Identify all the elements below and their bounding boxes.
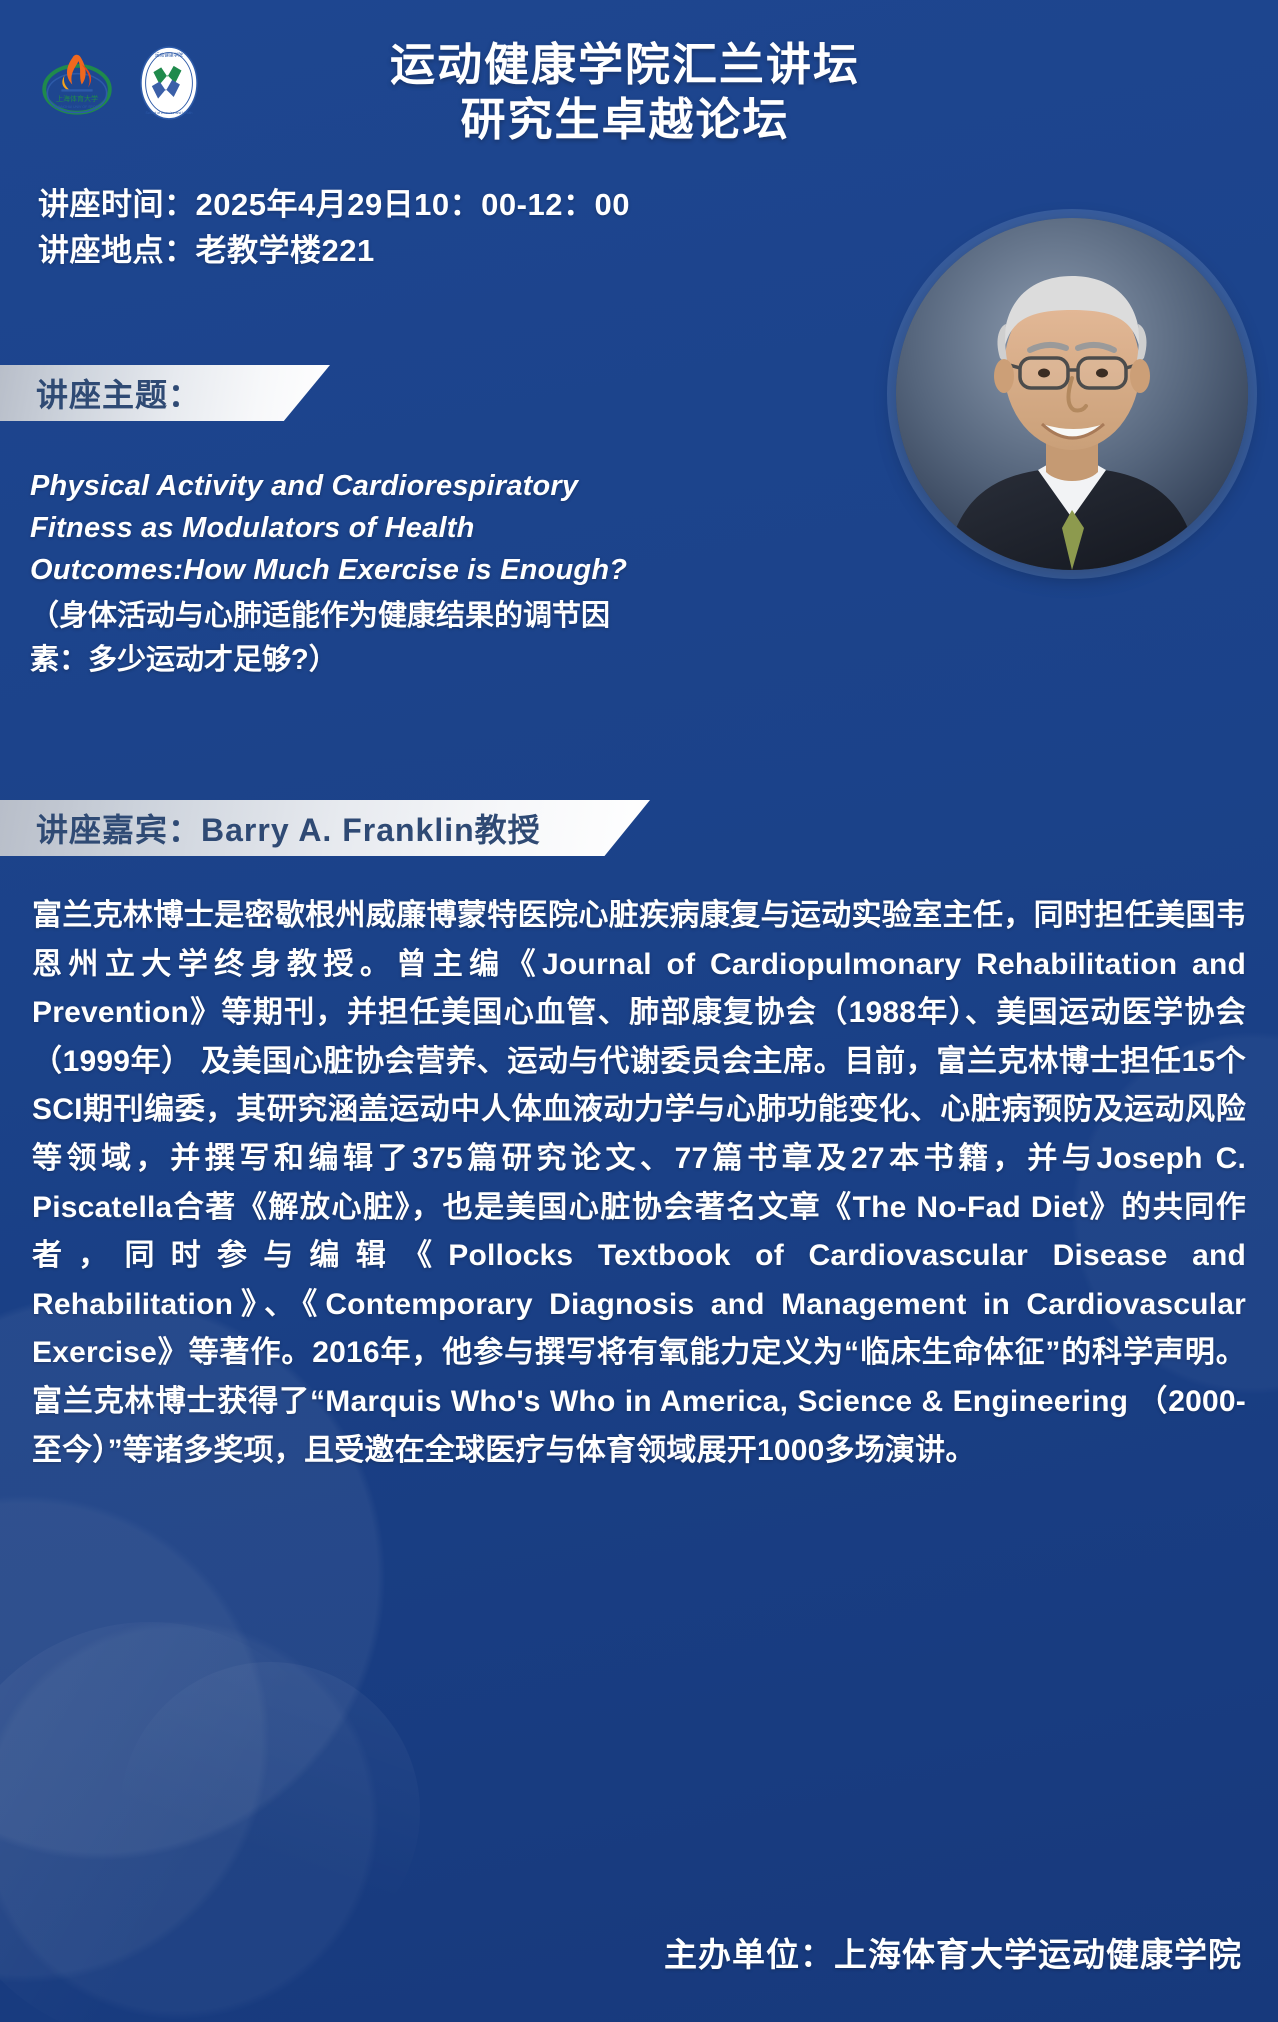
theme-section: 讲座主题： Physical Activity and Cardiorespir… xyxy=(0,365,1278,682)
poster-title-line-2: 研究生卓越论坛 xyxy=(230,93,1020,148)
lecture-place: 讲座地点：老教学楼221 xyxy=(38,228,630,274)
poster-canvas: 上海体育大学 SHANGHAI UNIV OF SPORT 运动健康学院 Sch… xyxy=(0,0,1278,2022)
guest-ribbon-banner: 讲座嘉宾：Barry A. Franklin教授 xyxy=(0,800,650,856)
lecture-time: 讲座时间：2025年4月29日10：00-12：00 xyxy=(38,182,630,228)
theme-title-english: Physical Activity and Cardiorespiratory … xyxy=(30,465,640,591)
theme-content: Physical Activity and Cardiorespiratory … xyxy=(0,421,640,682)
poster-header: 上海体育大学 SHANGHAI UNIV OF SPORT 运动健康学院 Sch… xyxy=(0,0,1278,185)
lecture-info-block: 讲座时间：2025年4月29日10：00-12：00 讲座地点：老教学楼221 xyxy=(38,182,630,274)
svg-text:SHANGHAI UNIV OF SPORT: SHANGHAI UNIV OF SPORT xyxy=(54,105,101,109)
theme-title-chinese: （身体活动与心肺适能作为健康结果的调节因素：多少运动才足够?） xyxy=(30,591,640,682)
guest-ribbon-text: 讲座嘉宾：Barry A. Franklin教授 xyxy=(36,805,541,851)
svg-text:运动健康学院: 运动健康学院 xyxy=(155,51,183,58)
theme-ribbon-banner: 讲座主题： xyxy=(0,365,330,421)
guest-section: 讲座嘉宾：Barry A. Franklin教授 xyxy=(0,800,1278,856)
organizer-line: 主办单位：上海体育大学运动健康学院 xyxy=(664,1928,1242,1976)
poster-title-line-1: 运动健康学院汇兰讲坛 xyxy=(230,38,1020,93)
school-of-exercise-and-health-logo: 运动健康学院 School of Exercise and Health xyxy=(130,44,208,122)
poster-title-block: 运动健康学院汇兰讲坛 研究生卓越论坛 xyxy=(230,38,1020,148)
speaker-biography: 富兰克林博士是密歇根州威廉博蒙特医院心脏疾病康复与运动实验室主任，同时担任美国韦… xyxy=(32,892,1246,1475)
shanghai-university-of-sport-logo: 上海体育大学 SHANGHAI UNIV OF SPORT xyxy=(38,44,116,122)
svg-text:School of Exercise and Health: School of Exercise and Health xyxy=(146,111,193,115)
svg-text:上海体育大学: 上海体育大学 xyxy=(56,94,98,103)
background-decoration-circle-1 xyxy=(0,1622,360,2022)
logo-group: 上海体育大学 SHANGHAI UNIV OF SPORT 运动健康学院 Sch… xyxy=(38,44,208,122)
theme-ribbon-label: 讲座主题： xyxy=(36,370,201,416)
background-decoration-circle-2 xyxy=(120,1662,420,1962)
